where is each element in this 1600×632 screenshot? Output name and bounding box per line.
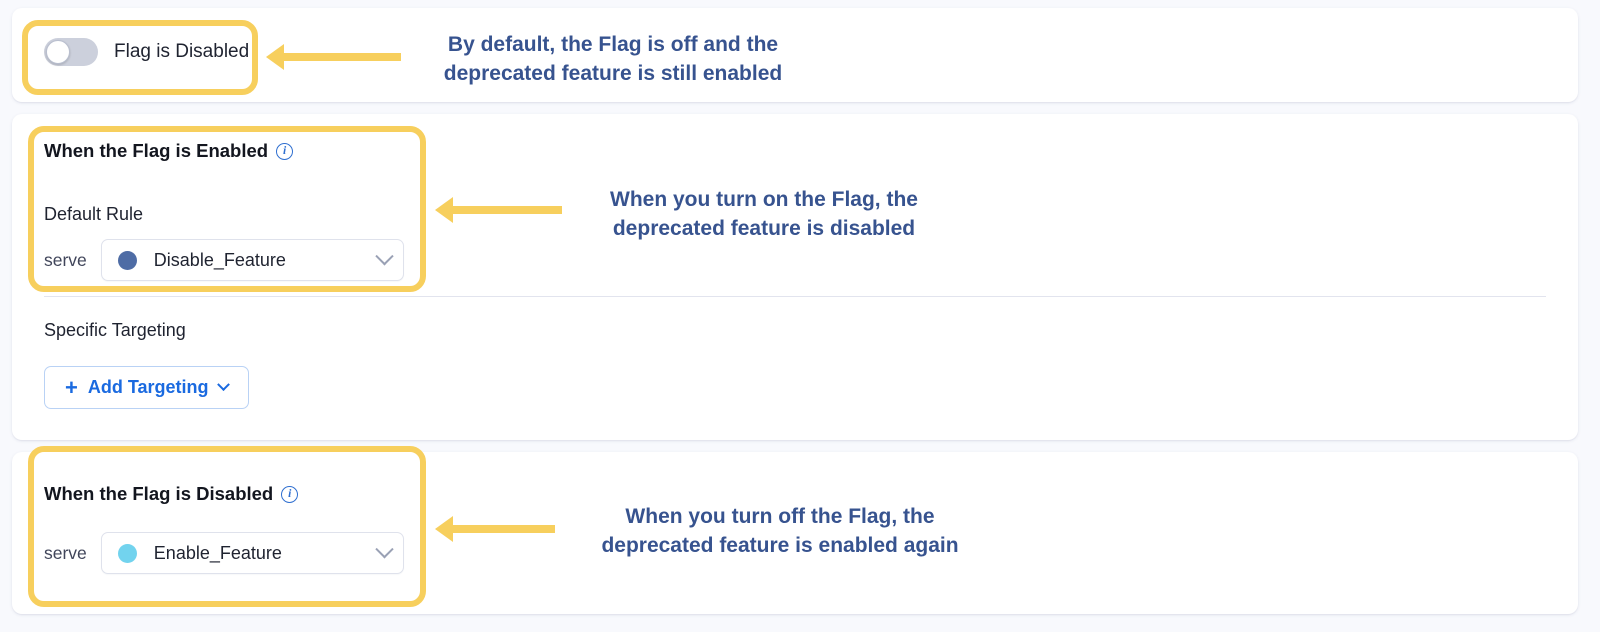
chevron-down-icon [375, 540, 393, 558]
toggle-knob [46, 40, 70, 64]
default-rule-label: Default Rule [44, 204, 143, 225]
disabled-variation-dropdown[interactable]: Enable_Feature [101, 532, 404, 574]
chevron-down-icon [375, 247, 393, 265]
annotation-arrow-left-2 [452, 206, 562, 214]
info-icon[interactable]: i [281, 486, 298, 503]
info-icon[interactable]: i [276, 143, 293, 160]
flag-toggle-switch[interactable] [44, 38, 98, 66]
flag-toggle-label: Flag is Disabled [114, 41, 249, 63]
variation-color-dot [118, 544, 137, 563]
annotation-flag-on: When you turn on the Flag, the deprecate… [583, 185, 945, 243]
add-targeting-button[interactable]: + Add Targeting [44, 366, 249, 409]
when-flag-disabled-title: When the Flag is Disabled [44, 483, 273, 505]
flag-toggle-row: Flag is Disabled [44, 38, 249, 66]
disabled-serve-row: serve Enable_Feature [44, 532, 404, 574]
chevron-down-icon [217, 378, 230, 391]
section-divider [44, 296, 1546, 297]
annotation-arrow-left-1 [283, 53, 401, 61]
flag-enabled-card: When the Flag is Enabled i Default Rule … [12, 114, 1578, 440]
annotation-arrow-left-3 [452, 525, 555, 533]
variation-value: Enable_Feature [154, 543, 378, 564]
default-rule-variation-dropdown[interactable]: Disable_Feature [101, 239, 404, 281]
plus-icon: + [65, 377, 78, 399]
when-flag-enabled-title: When the Flag is Enabled [44, 140, 268, 162]
variation-color-dot [118, 251, 137, 270]
annotation-flag-off: When you turn off the Flag, the deprecat… [571, 502, 989, 560]
serve-label: serve [44, 543, 87, 564]
annotation-default-off: By default, the Flag is off and the depr… [414, 30, 812, 88]
serve-label: serve [44, 250, 87, 271]
specific-targeting-label: Specific Targeting [44, 320, 186, 341]
add-targeting-label: Add Targeting [88, 377, 209, 398]
default-rule-serve-row: serve Disable_Feature [44, 239, 404, 281]
when-flag-disabled-heading: When the Flag is Disabled i [44, 483, 298, 505]
variation-value: Disable_Feature [154, 250, 378, 271]
when-flag-enabled-heading: When the Flag is Enabled i [44, 140, 293, 162]
